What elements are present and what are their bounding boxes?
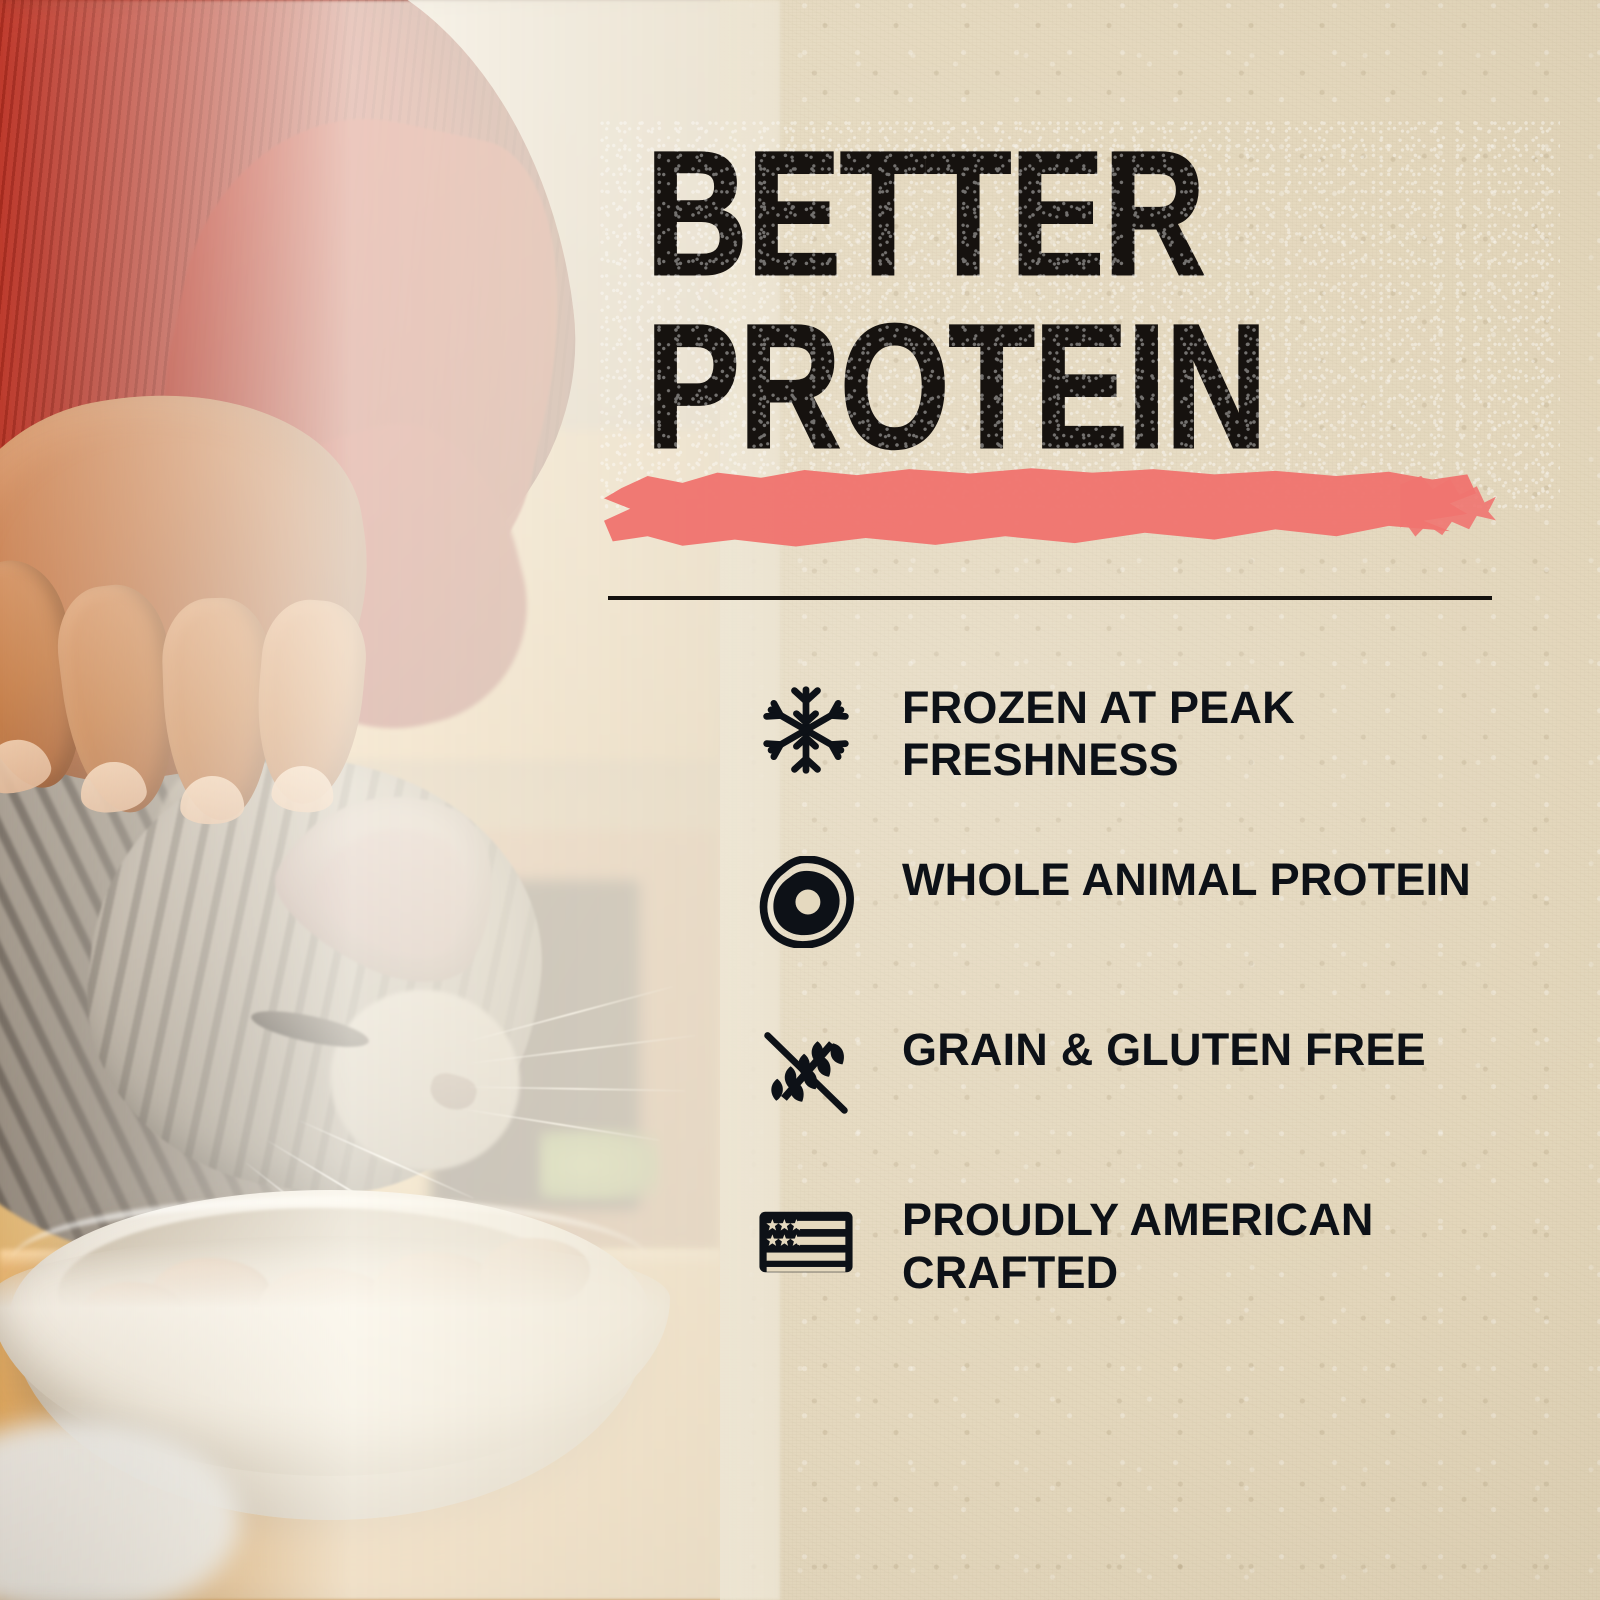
- headline-line-1: BETTER: [646, 128, 1366, 301]
- snowflake-icon: [752, 676, 860, 784]
- feature-label: PROUDLY AMERICAN CRAFTED: [902, 1188, 1502, 1298]
- feature-item: GRAIN & GLUTEN FREE: [752, 1018, 1512, 1126]
- promo-graphic: BETTER PROTEIN: [0, 0, 1600, 1600]
- feature-label: WHOLE ANIMAL PROTEIN: [902, 848, 1471, 906]
- lifestyle-photo: [0, 0, 720, 1600]
- headline-line-2: PROTEIN: [646, 301, 1366, 474]
- horizontal-rule: [608, 596, 1492, 600]
- grain-free-icon: [752, 1018, 860, 1126]
- feature-label: FROZEN AT PEAK FRESHNESS: [902, 676, 1502, 786]
- steak-icon: [752, 848, 860, 956]
- feature-label: GRAIN & GLUTEN FREE: [902, 1018, 1426, 1076]
- feature-item: PROUDLY AMERICAN CRAFTED: [752, 1188, 1512, 1298]
- page-title: BETTER PROTEIN: [646, 128, 1366, 475]
- american-flag-icon: [752, 1188, 860, 1296]
- green-plant-blur: [540, 1130, 660, 1200]
- feature-item: WHOLE ANIMAL PROTEIN: [752, 848, 1512, 956]
- feature-list: FROZEN AT PEAK FRESHNESS WHOLE ANIMAL PR…: [752, 676, 1512, 1299]
- feature-item: FROZEN AT PEAK FRESHNESS: [752, 676, 1512, 786]
